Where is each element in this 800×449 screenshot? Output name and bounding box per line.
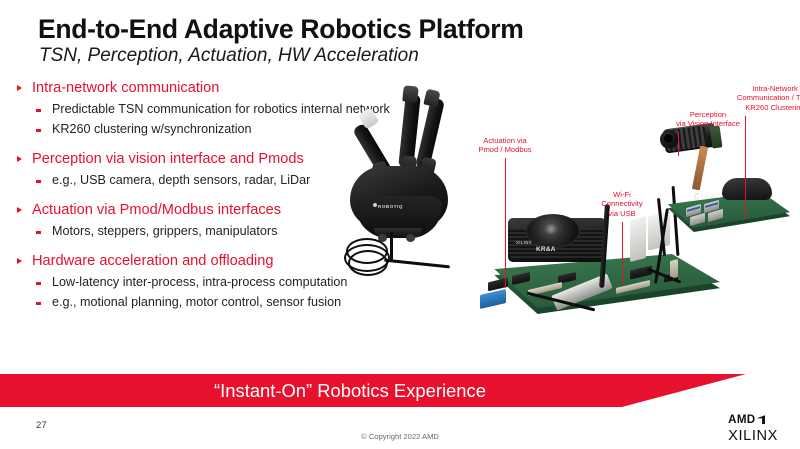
leader-line-intra-network	[745, 116, 746, 218]
pmod-connector	[480, 289, 506, 309]
amd-wordmark: AMD	[728, 413, 755, 426]
callout-intra-network-line3: KR260 Clustering	[700, 103, 800, 112]
callout-intra-network-line2: Communication / TSN,	[700, 93, 800, 102]
dash-icon	[36, 282, 41, 285]
leader-line-wifi	[622, 222, 623, 284]
callout-actuation: Actuation via Pmod / Modbus	[460, 136, 550, 155]
bullet-label: Intra-network communication	[32, 80, 219, 96]
vision-board-xilinx-label: XILINX	[700, 194, 720, 200]
sub-bullet-label: Motors, steppers, grippers, manipulators	[52, 224, 277, 238]
amd-arrow-icon	[756, 415, 765, 424]
banner-text: “Instant-On” Robotics Experience	[0, 374, 700, 407]
dash-icon	[36, 231, 41, 234]
callout-intra-network: Intra-Network Communication / TSN, KR260…	[700, 84, 800, 112]
bullet-label: Perception via vision interface and Pmod…	[32, 151, 304, 167]
page-subtitle: TSN, Perception, Actuation, HW Accelerat…	[39, 45, 419, 67]
amd-xilinx-logo: AMD XILINX	[728, 410, 778, 444]
gripper-brand-label: ROBOTIQ	[378, 204, 403, 209]
xilinx-wordmark: XILINX	[728, 428, 778, 444]
sub-bullet-label: KR260 clustering w/synchronization	[52, 122, 252, 136]
board-kria-label: KR&A	[536, 246, 556, 253]
callout-perception: Perception via Vision Interface	[638, 110, 778, 129]
dash-icon	[36, 129, 41, 132]
callout-wifi-line3: via USB	[582, 209, 662, 218]
leader-line-perception	[678, 132, 679, 156]
bullet-arrow-icon	[17, 207, 22, 213]
callout-actuation-line1: Actuation via	[460, 136, 550, 145]
leader-line-actuation	[505, 158, 506, 288]
bullet-arrow-icon	[17, 156, 22, 162]
callout-perception-line2: via Vision Interface	[638, 119, 778, 128]
bullet-label: Actuation via Pmod/Modbus interfaces	[32, 202, 281, 218]
dash-icon	[36, 180, 41, 183]
dash-icon	[36, 302, 41, 305]
callout-wifi: Wi-Fi Connectivity via USB	[582, 190, 662, 218]
page-title: End-to-End Adaptive Robotics Platform	[38, 14, 524, 45]
board-xilinx-label: XILINX	[516, 240, 532, 245]
bullet-arrow-icon	[17, 258, 22, 264]
sub-bullet-label: e.g., USB camera, depth sensors, radar, …	[52, 173, 310, 187]
slide: End-to-End Adaptive Robotics Platform TS…	[0, 0, 800, 449]
page-number: 27	[36, 420, 47, 431]
bullet-label: Hardware acceleration and offloading	[32, 253, 274, 269]
dash-icon	[36, 109, 41, 112]
callout-wifi-line2: Connectivity	[582, 199, 662, 208]
callout-wifi-line1: Wi-Fi	[582, 190, 662, 199]
bullet-arrow-icon	[17, 85, 22, 91]
callout-intra-network-line1: Intra-Network	[700, 84, 800, 93]
copyright-notice: © Copyright 2022 AMD	[0, 432, 800, 441]
hardware-photo-composite: ROBOTIQ KR&A XILINX	[330, 78, 800, 368]
callout-actuation-line2: Pmod / Modbus	[460, 145, 550, 154]
sub-bullet-label: Low-latency inter-process, intra-process…	[52, 275, 347, 289]
sub-bullet-label: e.g., motional planning, motor control, …	[52, 295, 341, 309]
